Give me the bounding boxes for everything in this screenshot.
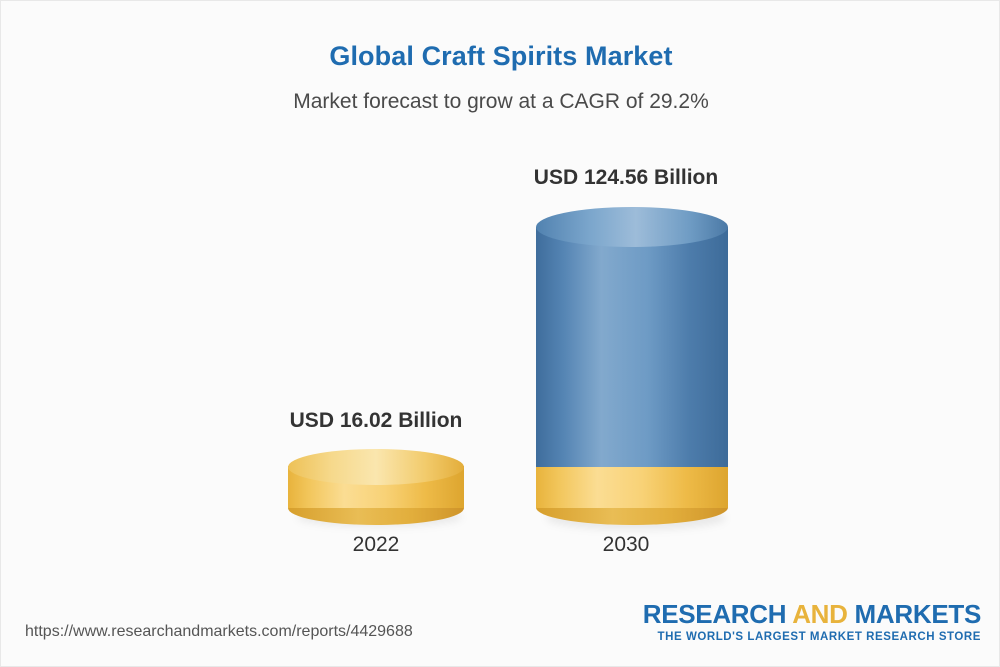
value-label-2030: USD 124.56 Billion	[479, 166, 773, 190]
page-title: Global Craft Spirits Market	[1, 41, 1000, 72]
bar-2030	[536, 207, 728, 525]
source-url[interactable]: https://www.researchandmarkets.com/repor…	[25, 623, 413, 641]
value-label-2022: USD 16.02 Billion	[229, 409, 523, 433]
brand-word-and: AND	[792, 599, 854, 629]
bar-2022	[288, 449, 464, 525]
infographic-canvas: Global Craft Spirits Market Market forec…	[0, 0, 1000, 667]
category-label-2030: 2030	[479, 533, 773, 557]
brand-title: RESEARCH AND MARKETS	[643, 601, 981, 628]
page-subtitle: Market forecast to grow at a CAGR of 29.…	[1, 90, 1000, 114]
bar-2030-top-ellipse	[536, 207, 728, 247]
brand-word-markets: MARKETS	[855, 599, 981, 629]
brand-word-research: RESEARCH	[643, 599, 792, 629]
brand-tagline: THE WORLD'S LARGEST MARKET RESEARCH STOR…	[643, 631, 981, 643]
bar-2030-body	[536, 227, 728, 467]
bar-2022-top-ellipse	[288, 449, 464, 485]
bar-2030-base-body	[536, 462, 728, 508]
brand-logo: RESEARCH AND MARKETS THE WORLD'S LARGEST…	[643, 601, 981, 643]
